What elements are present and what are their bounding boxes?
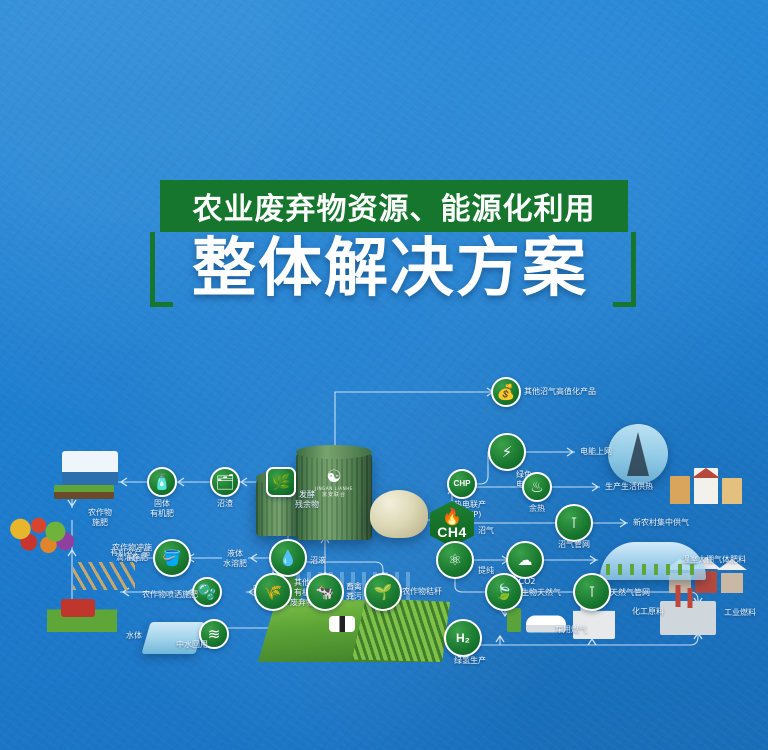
bucket-icon: 🪣 (153, 539, 191, 577)
label-drip-fertilize: 农作物冲施 滴灌施肥 (112, 543, 152, 563)
node-bio-gas[interactable]: 🍃 (485, 573, 523, 611)
label-methane: 沼气 (478, 526, 494, 536)
fertilizer-package-photo (62, 451, 118, 485)
poster-canvas: 农业废弃物资源、能源化利用 整体解决方案 .ln{fill:none;strok… (0, 0, 768, 750)
label-high-value: 其他沼气高值化产品 (524, 387, 596, 397)
label-vehicle-fuel: 车用燃气 (555, 625, 587, 635)
bio-icon: 🍃 (485, 573, 523, 611)
label-water-body: 水体 (126, 631, 142, 641)
label-crop-fertilize: 农作物 施肥 (88, 508, 112, 528)
label-gas-pipeline: 天然气管网 (610, 588, 650, 598)
label-hydrogen: 绿氢生产 (454, 656, 486, 666)
factory-stack2-icon (688, 588, 693, 608)
node-organic-waste[interactable]: 🌾 (254, 573, 292, 611)
node-manure[interactable]: 🐄 (306, 573, 344, 611)
label-greenhouse: 温室大棚气体肥料 (682, 555, 746, 565)
farm-icon: 🐄 (306, 573, 344, 611)
bracket-right-icon (613, 232, 636, 307)
node-high-value[interactable]: 💰 (491, 377, 521, 407)
power-pylon-photo (608, 424, 668, 484)
treasure-icon: 💰 (491, 377, 521, 407)
label-village-gas: 新农村集中供气 (633, 518, 689, 528)
residue-icon: 🌿 (266, 467, 296, 497)
folder-icon: 🗂 (210, 467, 240, 497)
pipe-icon: ⊺ (573, 573, 611, 611)
logo-mark-icon: ☯ (296, 468, 372, 486)
bolt-icon: ⚡ (488, 433, 526, 471)
label-chem-material: 化工原料 (632, 607, 664, 617)
node-ferment-residue[interactable]: 🌿 (266, 467, 296, 497)
node-biogas-grid[interactable]: ⊺ (555, 504, 593, 542)
tractor-body-icon (61, 599, 95, 617)
title-subtitle: 农业废弃物资源、能源化利用 (193, 184, 596, 228)
title-band: 农业废弃物资源、能源化利用 (160, 180, 628, 232)
label-straw: 农作物秸秆 (402, 587, 442, 597)
node-liquid-fertilizer[interactable]: 🪣 (153, 539, 191, 577)
node-chp[interactable]: CHP (447, 469, 477, 499)
methane-badge-text: CH4 (437, 525, 467, 539)
label-manure: 畜禽 粪污 (346, 582, 362, 602)
leaf-icon: 🌾 (254, 573, 292, 611)
fuel-station-icon (507, 608, 521, 632)
label-waste-heat: 余热 (529, 504, 545, 514)
gas-holder-dome (370, 490, 428, 538)
title-block: 农业废弃物资源、能源化利用 整体解决方案 (150, 180, 630, 320)
label-ferment-residue: 发酵 残余物 (295, 490, 319, 510)
chp-icon: CHP (447, 469, 477, 499)
node-purify[interactable]: ⚛ (436, 541, 474, 579)
label-grid: 电能上网 (580, 447, 612, 457)
page-title: 整体解决方案 (150, 235, 630, 303)
molecule-icon: ⚛ (436, 541, 474, 579)
node-hydrogen[interactable]: H₂ (444, 619, 482, 657)
node-waste-heat[interactable]: ♨ (522, 472, 552, 502)
town-photo (666, 464, 758, 504)
node-green-power[interactable]: ⚡ (488, 433, 526, 471)
node-straw[interactable]: 🌱 (364, 573, 402, 611)
node-biogas-slurry[interactable]: 💧 (269, 539, 307, 577)
label-industry-fuel: 工业燃料 (724, 608, 756, 618)
label-biogas-slurry: 沼液 (310, 556, 326, 566)
label-heat-supply: 生产生活供热 (605, 482, 653, 492)
label-biogas-residue: 沼渣 (217, 499, 233, 509)
label-bio-gas: 生物天然气 (521, 588, 561, 598)
h2-icon: H₂ (444, 619, 482, 657)
straw-icon: 🌱 (364, 573, 402, 611)
factory-stack-icon (676, 585, 681, 607)
cow-photo (329, 616, 355, 632)
node-solid-fertilizer[interactable]: 🧴 (147, 467, 177, 497)
organic-produce-photo (5, 514, 75, 558)
bracket-left-icon (150, 232, 173, 307)
bag-icon: 🧴 (147, 467, 177, 497)
drip-irrigation-photo (73, 562, 135, 590)
label-spray-fertilize: 农作物喷洒施肥 (142, 590, 198, 600)
label-liquid-fertilizer: 液体 水溶肥 (223, 549, 247, 569)
node-biogas-residue[interactable]: 🗂 (210, 467, 240, 497)
droplet-icon: 💧 (269, 539, 307, 577)
label-solid-fertilizer: 固体 有机肥 (150, 499, 174, 519)
pipe-icon: ⊺ (555, 504, 593, 542)
label-water-reuse: 中水回用 (176, 640, 208, 650)
seedling-row-photo (54, 485, 114, 499)
heat-icon: ♨ (522, 472, 552, 502)
label-biogas-grid: 沼气管网 (558, 540, 590, 550)
node-gas-pipeline[interactable]: ⊺ (573, 573, 611, 611)
